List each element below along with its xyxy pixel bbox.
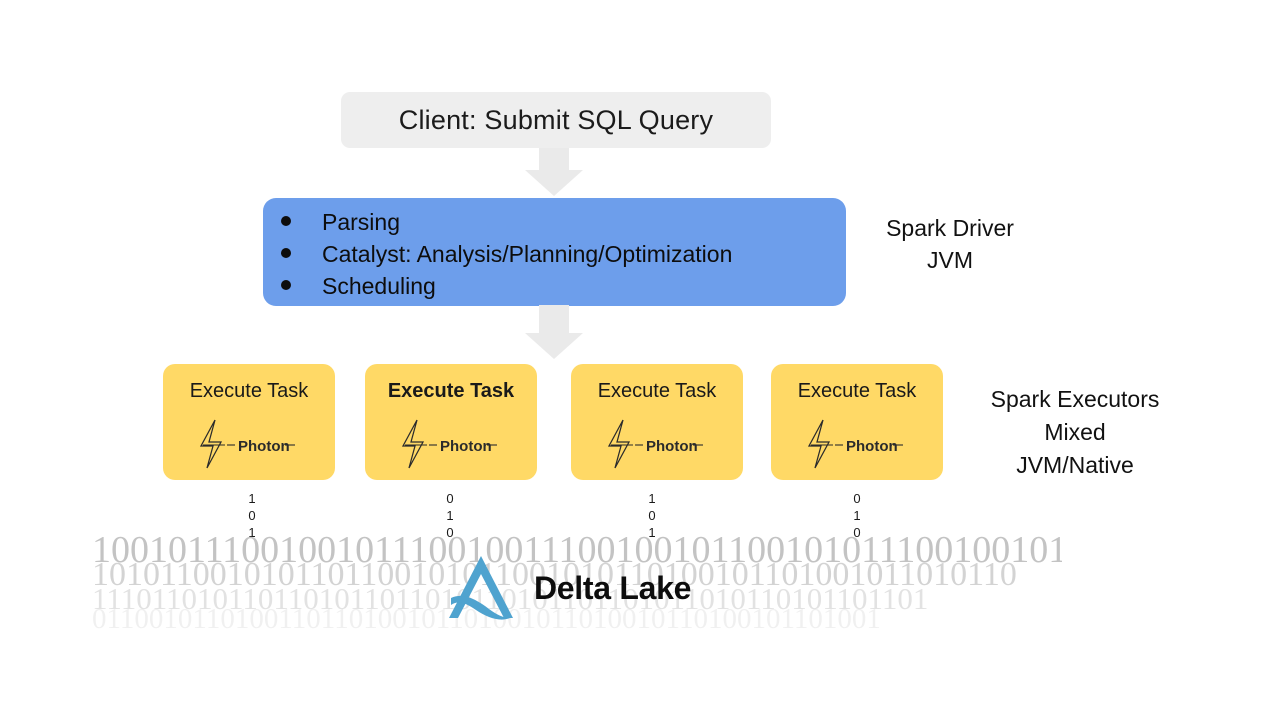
bit-digit: 1 xyxy=(837,507,877,524)
arrow-head xyxy=(525,170,583,196)
executor-bit-stack: 0 1 0 xyxy=(430,490,470,541)
executor-title: Execute Task xyxy=(771,380,943,403)
bit-digit: 1 xyxy=(430,507,470,524)
client-box-label: Client: Submit SQL Query xyxy=(399,105,713,136)
executor-title: Execute Task xyxy=(163,380,335,403)
photon-logo-text: Photon xyxy=(646,438,698,455)
photon-logo-icon: Photon xyxy=(771,418,943,470)
driver-step-label: Parsing xyxy=(322,206,400,238)
bit-digit: 0 xyxy=(430,490,470,507)
arrow-head xyxy=(525,333,583,359)
delta-lake-lockup: Delta Lake xyxy=(444,552,691,624)
bullet-icon xyxy=(281,280,291,290)
photon-logo-icon: Photon xyxy=(163,418,335,470)
photon-logo-text: Photon xyxy=(440,438,492,455)
executor-box: Execute Task Photon xyxy=(571,364,743,480)
diagram-canvas: Client: Submit SQL Query Parsing Catalys… xyxy=(0,0,1280,720)
bullet-icon xyxy=(281,248,291,258)
driver-step-label: Scheduling xyxy=(322,270,436,302)
arrow-driver-to-executors xyxy=(525,305,583,359)
photon-logo-text: Photon xyxy=(846,438,898,455)
executor-box: Execute Task Photon xyxy=(771,364,943,480)
bit-digit: 0 xyxy=(837,490,877,507)
spark-driver-side-label-line: JVM xyxy=(855,244,1045,276)
executor-box: Execute Task Photon xyxy=(163,364,335,480)
photon-logo-icon: Photon xyxy=(365,418,537,470)
photon-logo-text: Photon xyxy=(238,438,290,455)
driver-step-label: Catalyst: Analysis/Planning/Optimization xyxy=(322,238,732,270)
spark-driver-box: Parsing Catalyst: Analysis/Planning/Opti… xyxy=(263,198,846,306)
executor-title: Execute Task xyxy=(571,380,743,403)
delta-lake-label: Delta Lake xyxy=(534,570,691,607)
executor-bit-stack: 1 0 1 xyxy=(232,490,272,541)
photon-logo-icon: Photon xyxy=(571,418,743,470)
bit-digit: 0 xyxy=(232,507,272,524)
bit-digit: 1 xyxy=(232,524,272,541)
spark-executors-side-label: Spark Executors Mixed JVM/Native xyxy=(955,383,1195,482)
delta-lake-logo-icon xyxy=(444,552,518,624)
executor-title: Execute Task xyxy=(365,380,537,403)
bullet-icon xyxy=(281,216,291,226)
spark-driver-side-label-line: Spark Driver xyxy=(855,212,1045,244)
arrow-client-to-driver xyxy=(525,148,583,196)
driver-step-item: Parsing xyxy=(281,206,846,238)
spark-driver-side-label: Spark Driver JVM xyxy=(855,212,1045,276)
driver-step-list: Parsing Catalyst: Analysis/Planning/Opti… xyxy=(281,206,846,302)
bit-digit: 1 xyxy=(232,490,272,507)
executor-bit-stack: 0 1 0 xyxy=(837,490,877,541)
spark-executors-side-label-line: Spark Executors xyxy=(955,383,1195,416)
spark-executors-side-label-line: Mixed xyxy=(955,416,1195,449)
bit-digit: 1 xyxy=(632,490,672,507)
executor-bit-stack: 1 0 1 xyxy=(632,490,672,541)
executor-box: Execute Task Photon xyxy=(365,364,537,480)
spark-executors-side-label-line: JVM/Native xyxy=(955,449,1195,482)
driver-step-item: Catalyst: Analysis/Planning/Optimization xyxy=(281,238,846,270)
bit-digit: 1 xyxy=(632,524,672,541)
bit-digit: 0 xyxy=(632,507,672,524)
bit-digit: 0 xyxy=(430,524,470,541)
bit-digit: 0 xyxy=(837,524,877,541)
arrow-shaft xyxy=(539,148,569,170)
driver-step-item: Scheduling xyxy=(281,270,846,302)
client-box: Client: Submit SQL Query xyxy=(341,92,771,148)
arrow-shaft xyxy=(539,305,569,333)
